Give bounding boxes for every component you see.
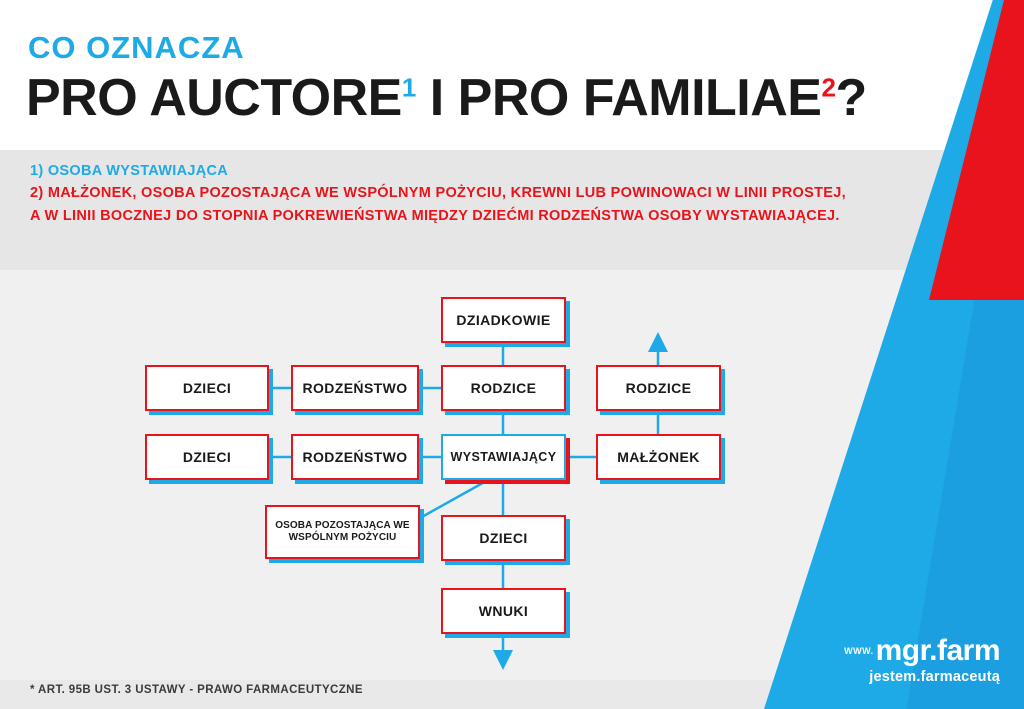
legend-line-1: 1) OSOBA WYSTAWIAJĄCA: [30, 160, 860, 182]
node-label: OSOBA POZOSTAJĄCA WE WSPÓLNYM POŻYCIU: [267, 520, 418, 545]
node-label: MAŁŻONEK: [611, 449, 706, 465]
title-part-middle: I PRO FAMILIAE: [416, 69, 822, 127]
logo-www-text: WWW.: [844, 647, 874, 656]
node-label: RODZEŃSTWO: [296, 380, 413, 396]
node-label: RODZICE: [465, 380, 543, 396]
node-rodzice-2: RODZICE: [596, 365, 721, 411]
logo-name-text: mgr.farm: [876, 634, 1000, 667]
node-rodzenstwo-2: RODZEŃSTWO: [291, 434, 419, 480]
legend-line-3: A W LINII BOCZNEJ DO STOPNIA POKREWIEŃST…: [30, 205, 860, 227]
node-osoba: OSOBA POZOSTAJĄCA WE WSPÓLNYM POŻYCIU: [265, 505, 420, 559]
node-label: DZIECI: [177, 449, 237, 465]
header-kicker: CO OZNACZA: [28, 30, 245, 66]
node-wnuki: WNUKI: [441, 588, 566, 634]
footnote-text: * ART. 95B UST. 3 USTAWY - PRAWO FARMACE…: [30, 684, 363, 696]
logo-tagline: jestem.farmaceutą: [844, 669, 1000, 685]
legend-line-2: 2) MAŁŻONEK, OSOBA POZOSTAJĄCA WE WSPÓLN…: [30, 182, 860, 204]
logo-main-text: WWW.mgr.farm: [844, 636, 1000, 666]
title-part-1: PRO AUCTORE: [26, 69, 402, 127]
node-label: DZIECI: [177, 380, 237, 396]
node-rodzenstwo-1: RODZEŃSTWO: [291, 365, 419, 411]
node-rodzice: RODZICE: [441, 365, 566, 411]
node-malzonek: MAŁŻONEK: [596, 434, 721, 480]
node-label: DZIECI: [473, 530, 533, 546]
legend-block: 1) OSOBA WYSTAWIAJĄCA 2) MAŁŻONEK, OSOBA…: [30, 160, 860, 227]
node-label: RODZEŃSTWO: [296, 449, 413, 465]
node-dzieci-1: DZIECI: [145, 365, 269, 411]
title-part-end: ?: [835, 69, 866, 127]
node-dziadkowie: DZIADKOWIE: [441, 297, 566, 343]
node-label: WYSTAWIAJĄCY: [445, 450, 563, 464]
node-label: DZIADKOWIE: [450, 312, 556, 328]
page-title: PRO AUCTORE1 I PRO FAMILIAE2?: [26, 68, 867, 128]
node-dzieci-3: DZIECI: [441, 515, 566, 561]
brand-logo[interactable]: WWW.mgr.farm jestem.farmaceutą: [844, 636, 1000, 685]
node-dzieci-2: DZIECI: [145, 434, 269, 480]
title-superscript-2: 2: [821, 73, 835, 103]
infographic-canvas: CO OZNACZA PRO AUCTORE1 I PRO FAMILIAE2?…: [0, 0, 1024, 709]
node-wystawiajacy: WYSTAWIAJĄCY: [441, 434, 566, 480]
node-label: RODZICE: [620, 380, 698, 396]
family-tree-diagram: DZIADKOWIERODZICERODZEŃSTWODZIECIRODZICE…: [0, 270, 1024, 680]
title-superscript-1: 1: [402, 73, 416, 103]
node-label: WNUKI: [473, 603, 534, 619]
